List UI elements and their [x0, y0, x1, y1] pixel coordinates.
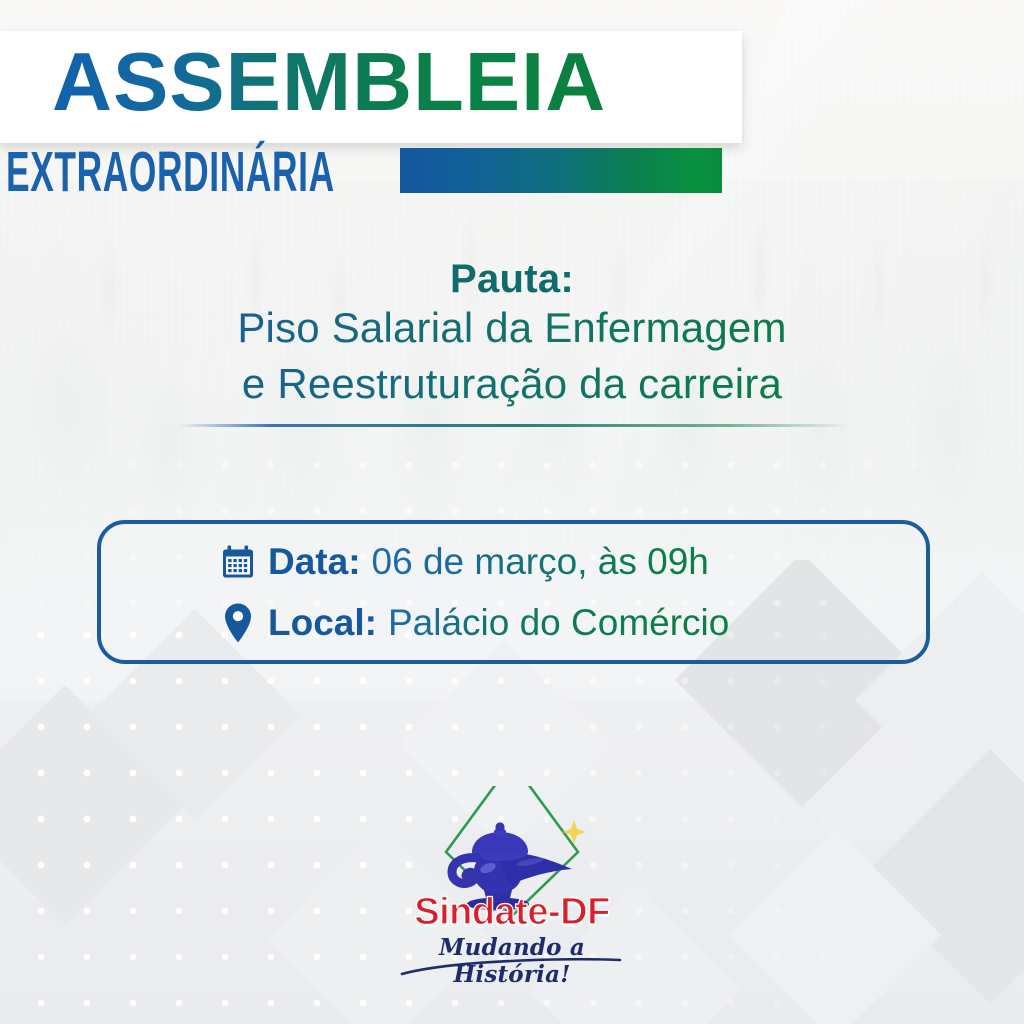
subtitle-row: EXTRAORDINÁRIA — [0, 146, 742, 198]
agenda-label: Pauta: — [0, 258, 1024, 300]
page-title: ASSEMBLEIA — [52, 40, 606, 123]
agenda-line-1: Piso Salarial da Enfermagem — [0, 300, 1024, 356]
gradient-bar — [400, 148, 722, 193]
location-label: Local: — [268, 602, 377, 644]
map-pin-icon — [221, 603, 255, 643]
sindate-df-logo: Sindate-DF Mudando a História! — [392, 786, 632, 982]
section-divider — [178, 424, 850, 427]
logo-wordmark: Sindate-DF — [392, 891, 632, 934]
poster-canvas: ASSEMBLEIA EXTRAORDINÁRIA Pauta: Piso Sa… — [0, 0, 1024, 1024]
calendar-icon — [221, 542, 255, 582]
date-value: 06 de março, às 09h — [372, 541, 709, 583]
date-label: Data: — [268, 541, 361, 583]
agenda-block: Pauta: Piso Salarial da Enfermagem e Ree… — [0, 258, 1024, 412]
event-details-box: Data: 06 de março, às 09h Local: Palácio… — [97, 520, 930, 664]
date-row: Data: 06 de março, às 09h — [221, 541, 709, 583]
page-subtitle: EXTRAORDINÁRIA — [6, 144, 335, 201]
agenda-line-2: e Reestruturação da carreira — [0, 356, 1024, 412]
location-row: Local: Palácio do Comércio — [221, 602, 729, 644]
logo-swoosh-underline — [398, 958, 628, 976]
location-value: Palácio do Comércio — [388, 602, 729, 644]
